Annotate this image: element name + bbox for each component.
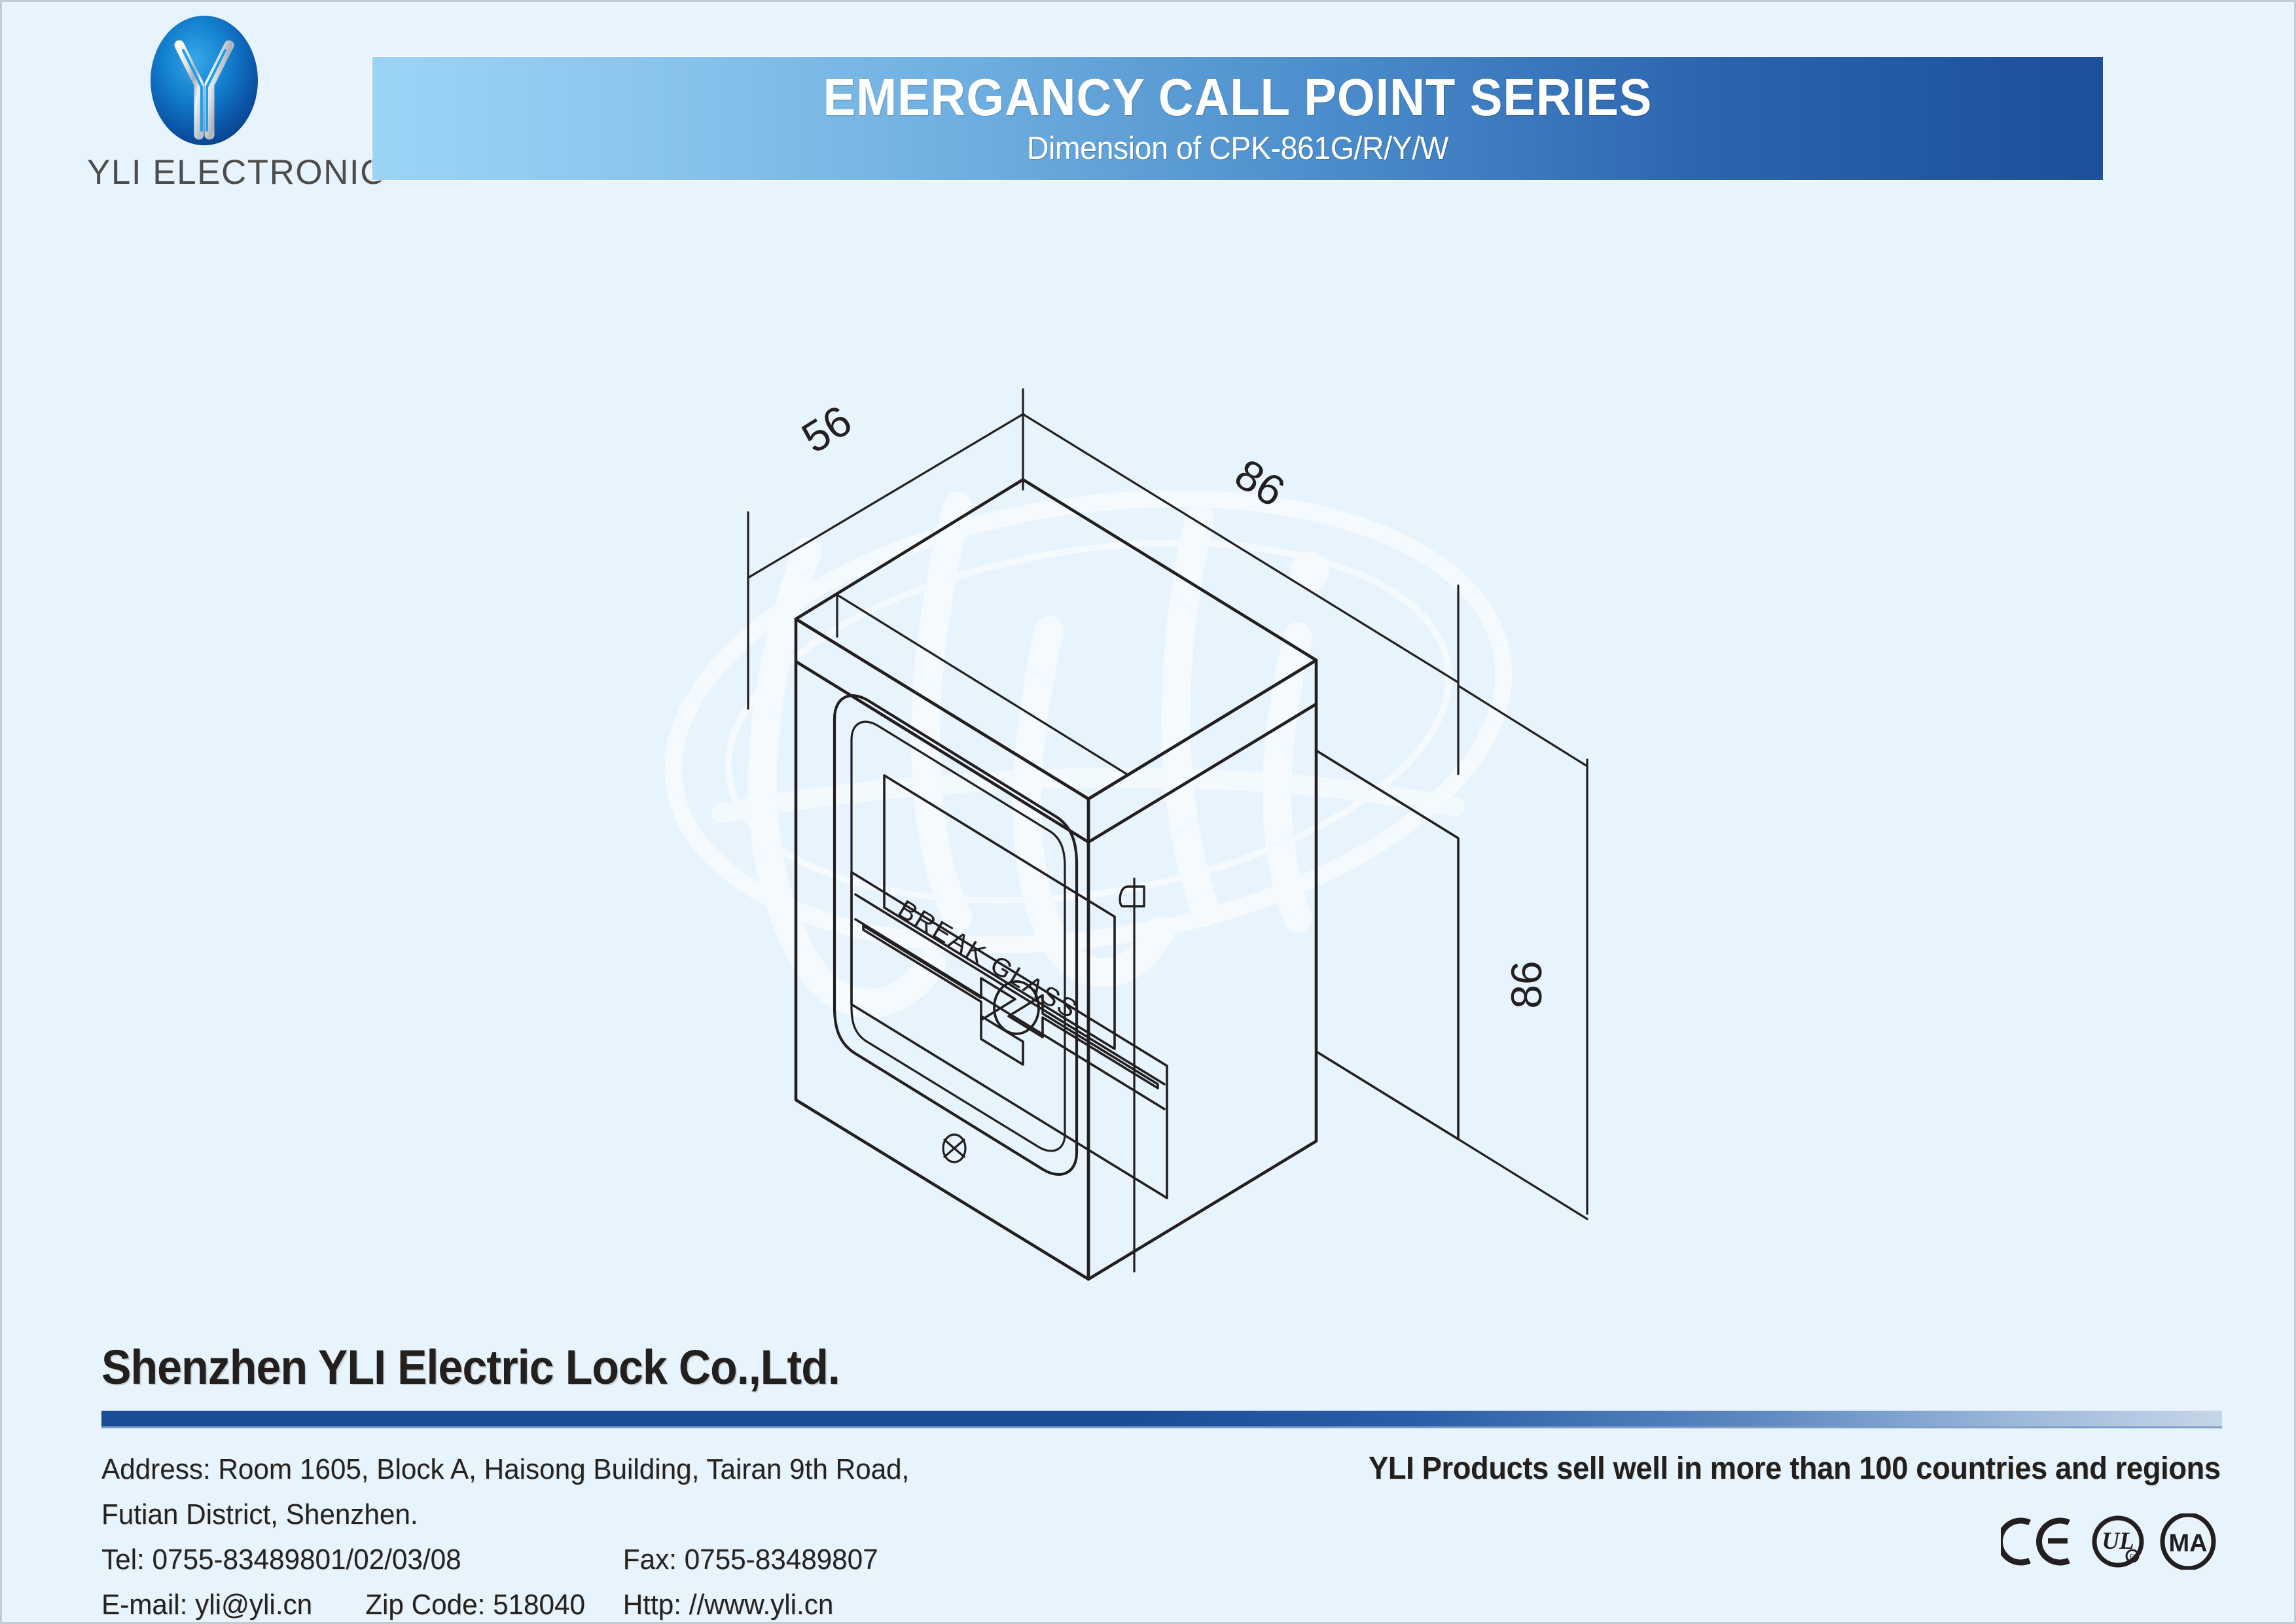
isometric-drawing-svg: 56 86 86 [591, 355, 1704, 1304]
lid-step [837, 595, 1128, 775]
product-technical-drawing: 56 86 86 [591, 355, 1704, 1304]
svg-text:MA: MA [2168, 1530, 2207, 1557]
tel-fax-row: Tel: 0755-83489801/02/03/08Fax: 0755-834… [101, 1538, 1082, 1581]
tel-value: Tel: 0755-83489801/02/03/08 [101, 1538, 623, 1581]
arrow-right-indicator [1009, 995, 1158, 1088]
address-line-2: Futian District, Shenzhen. [101, 1493, 1082, 1536]
certification-marks: UL R MA [2001, 1513, 2217, 1570]
dimension-label-depth: 56 [793, 396, 859, 463]
sales-tagline: YLI Products sell well in more than 100 … [1369, 1451, 2221, 1487]
brand-logo-text: YLI ELECTRONIC [87, 152, 342, 192]
header-banner: EMERGANCY CALL POINT SERIES Dimension of… [372, 57, 2103, 180]
dimension-label-height: 86 [1502, 961, 1551, 1008]
address-line-1: Address: Room 1605, Block A, Haisong Bui… [101, 1448, 1082, 1491]
email-value[interactable]: E-mail: yli@yli.cn [101, 1583, 365, 1624]
email-zip-http-row: E-mail: yli@yli.cnZip Code: 518040Http: … [101, 1583, 1082, 1624]
brand-logo: YLI ELECTRONIC [87, 14, 342, 190]
datasheet-page: YLI ELECTRONIC EMERGANCY CALL POINT SERI… [0, 0, 2296, 1624]
svg-text:R: R [2130, 1553, 2135, 1561]
ma-mark-icon: MA [2159, 1513, 2217, 1570]
fax-value: Fax: 0755-83489807 [623, 1544, 878, 1576]
zipcode-value: Zip Code: 518040 [365, 1583, 623, 1624]
retaining-screw-icon [943, 1135, 965, 1162]
ce-mark-icon [2001, 1516, 2077, 1567]
ul-mark-icon: UL R [2091, 1515, 2145, 1568]
page-title: EMERGANCY CALL POINT SERIES [433, 67, 2043, 128]
enclosure-case [796, 662, 1316, 1279]
contact-info-block: Address: Room 1605, Block A, Haisong Bui… [101, 1448, 1082, 1624]
website-value[interactable]: Http: //www.yli.cn [623, 1589, 834, 1621]
company-name: Shenzhen YLI Electric Lock Co.,Ltd. [101, 1339, 840, 1395]
footer-divider-bar [101, 1411, 2222, 1428]
yli-antibody-y-logo-icon [149, 14, 259, 148]
page-subtitle: Dimension of CPK-861G/R/Y/W [416, 130, 2060, 167]
